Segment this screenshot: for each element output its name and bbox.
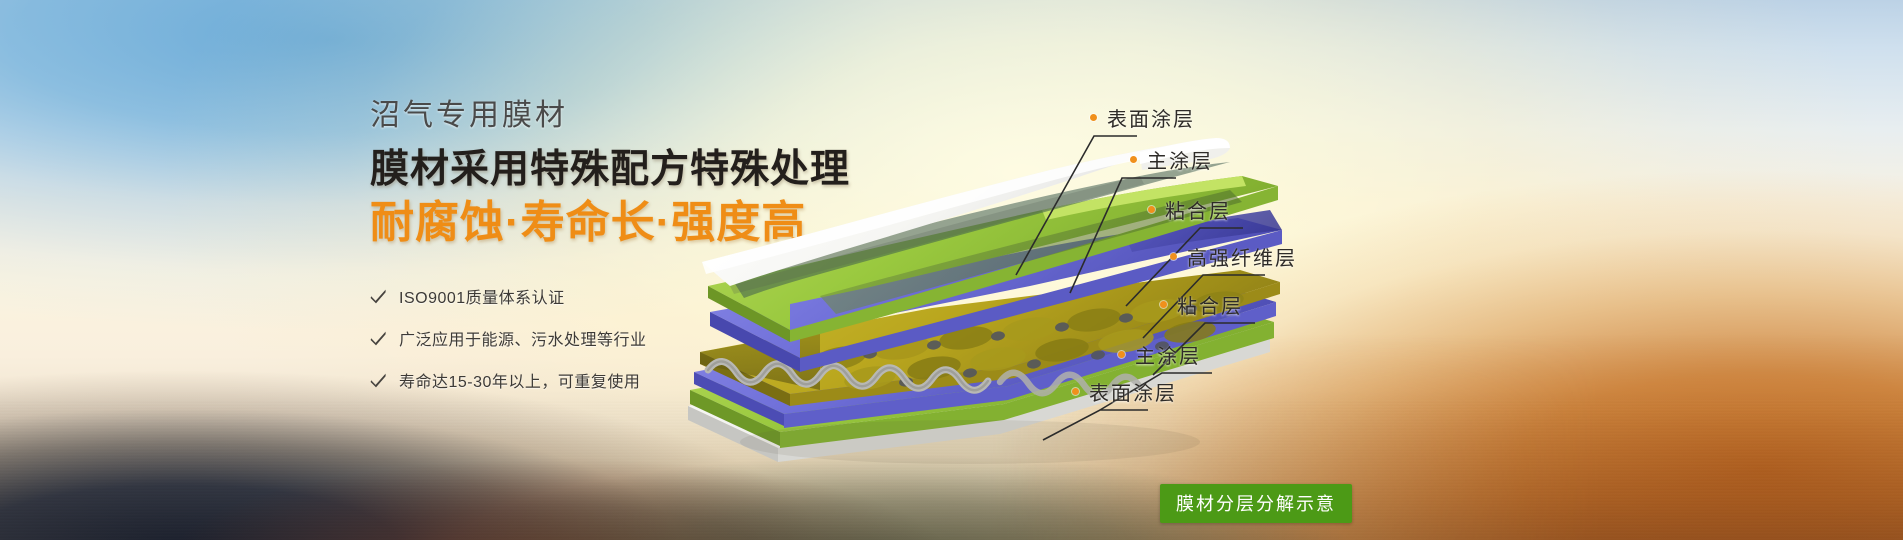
callout-label: 高强纤维层 <box>1187 242 1297 271</box>
callout-dot-icon <box>1072 388 1079 395</box>
callout-2: 主涂层 <box>1130 145 1213 174</box>
callout-5: 粘合层 <box>1160 290 1243 319</box>
promo-banner: 沼气专用膜材 膜材采用特殊配方特殊处理 耐腐蚀·寿命长·强度高 ISO9001质… <box>0 0 1903 540</box>
diagram-caption-badge: 膜材分层分解示意 <box>1160 484 1352 523</box>
callout-6: 主涂层 <box>1118 340 1201 369</box>
callout-label: 粘合层 <box>1177 290 1243 319</box>
callout-dot-icon <box>1170 253 1177 260</box>
callout-1: 表面涂层 <box>1090 103 1195 132</box>
callout-label: 主涂层 <box>1135 340 1201 369</box>
callout-label: 表面涂层 <box>1107 103 1195 132</box>
callout-dot-icon <box>1160 301 1167 308</box>
callout-7: 表面涂层 <box>1072 377 1177 406</box>
callout-label: 粘合层 <box>1165 195 1231 224</box>
callout-dot-icon <box>1118 351 1125 358</box>
callout-dot-icon <box>1090 114 1097 121</box>
callout-label: 主涂层 <box>1147 145 1213 174</box>
callout-4: 高强纤维层 <box>1170 242 1297 271</box>
callout-3: 粘合层 <box>1148 195 1231 224</box>
callout-dot-icon <box>1148 206 1155 213</box>
callout-label: 表面涂层 <box>1089 377 1177 406</box>
callout-label-group: 表面涂层 主涂层 粘合层 高强纤维层 粘合层 主涂层 表面涂层 <box>0 0 1903 540</box>
callout-dot-icon <box>1130 156 1137 163</box>
